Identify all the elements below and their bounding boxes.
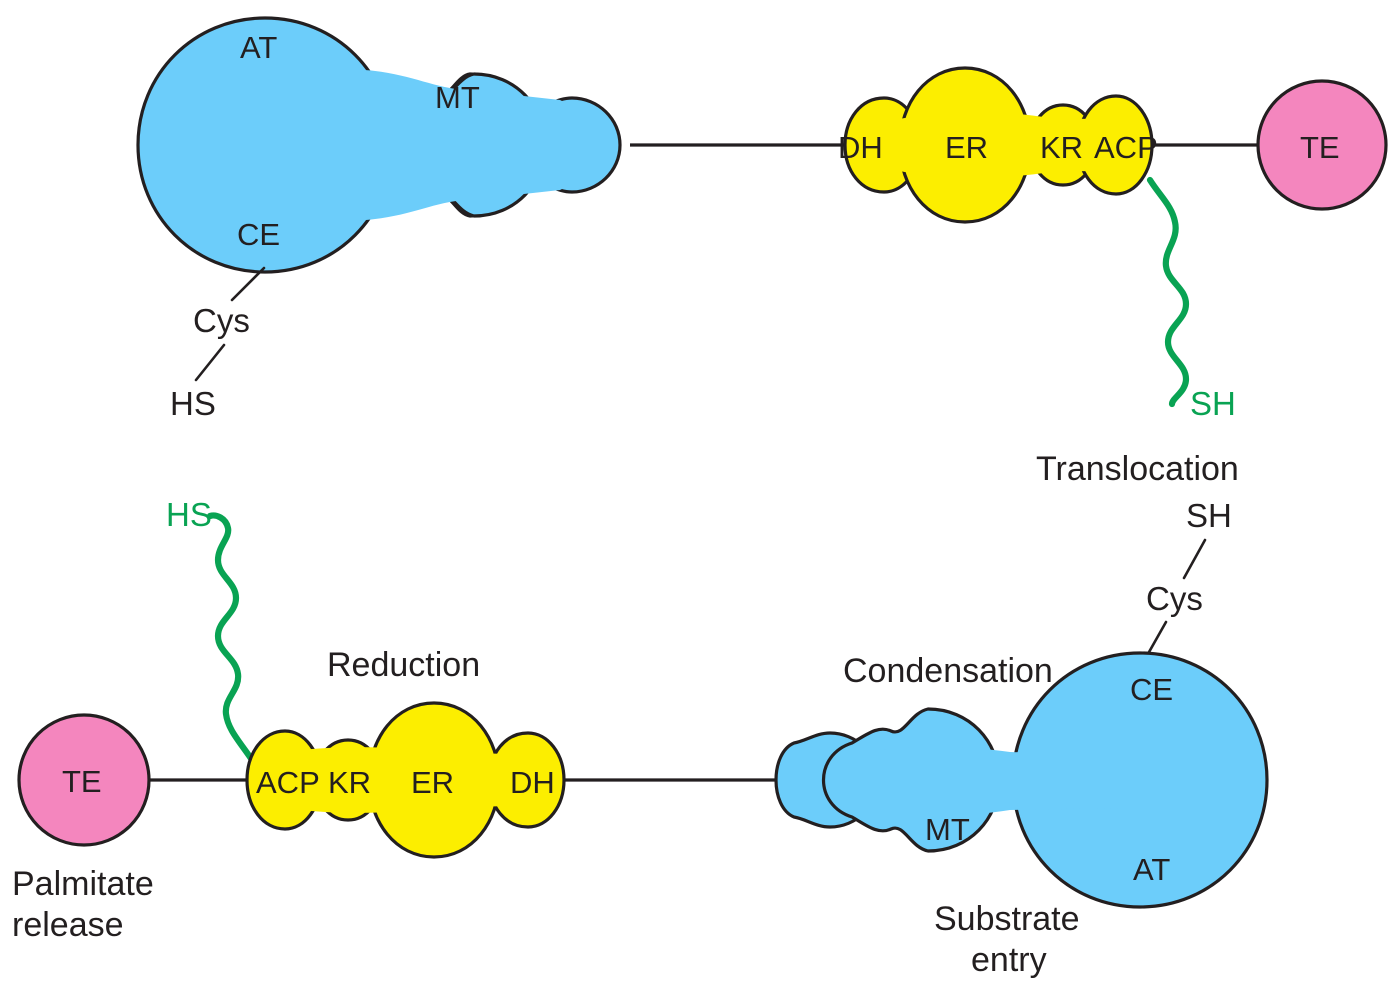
te-label-top: TE [1300,130,1340,165]
residue-label-cys-top: Cys [193,302,250,339]
domain-label-dh-bottom: DH [510,765,555,800]
process-label-condensation: Condensation [843,652,1053,690]
process-label-translocation: Translocation [1036,450,1239,488]
domain-label-acp-bottom: ACP [256,765,320,800]
domain-label-kr-bottom: KR [328,765,371,800]
te-label-bottom: TE [62,764,102,799]
domain-label-ce: CE [237,217,280,252]
domain-label-kr-top: KR [1040,130,1083,165]
bottom-condensing-unit[interactable]: MT CE AT [776,653,1267,907]
thioesterase-top[interactable]: TE [1258,81,1386,209]
domain-label-at: AT [240,30,277,65]
substrate-entry-line1: Substrate [934,900,1080,938]
palmitate-release-line1: Palmitate [12,865,154,903]
diagram-canvas: AT MT CE Cys HS DH ER KR [0,0,1400,988]
thioesterase-bottom[interactable]: TE [19,715,149,845]
fatty-acid-synthase-diagram: AT MT CE Cys HS DH ER KR [0,0,1400,988]
phosphopantetheine-arm-bottom [210,516,252,761]
top-processing-unit[interactable]: DH ER KR ACP [838,68,1158,222]
domain-label-at-bottom: AT [1133,852,1170,887]
thiol-label-sh-top: SH [1190,385,1236,422]
tether-sh-to-cys-bottom [1184,540,1205,578]
tether-cys-to-hs-top [196,345,224,380]
domain-label-acp-top: ACP [1094,130,1158,165]
thiol-label-hs-top: HS [170,385,216,422]
domain-label-dh-top: DH [838,130,883,165]
palmitate-release-line2: release [12,906,124,944]
phosphopantetheine-arm-top [1150,180,1186,404]
tether-ce-to-cys-top [232,268,264,300]
top-condensing-unit[interactable]: AT MT CE [138,18,620,272]
thiol-label-hs-bottom: HS [166,496,212,533]
substrate-entry-line2: entry [971,941,1047,979]
bottom-processing-unit[interactable]: ACP KR ER DH [247,703,564,857]
domain-label-er-bottom: ER [411,765,454,800]
thiol-label-sh-bottom: SH [1186,497,1232,534]
domain-label-mt-bottom: MT [925,812,970,847]
domain-label-er-top: ER [945,130,988,165]
domain-label-mt: MT [435,80,480,115]
process-label-reduction: Reduction [327,646,480,684]
residue-label-cys-bottom: Cys [1146,580,1203,617]
domain-label-ce-bottom: CE [1130,672,1173,707]
